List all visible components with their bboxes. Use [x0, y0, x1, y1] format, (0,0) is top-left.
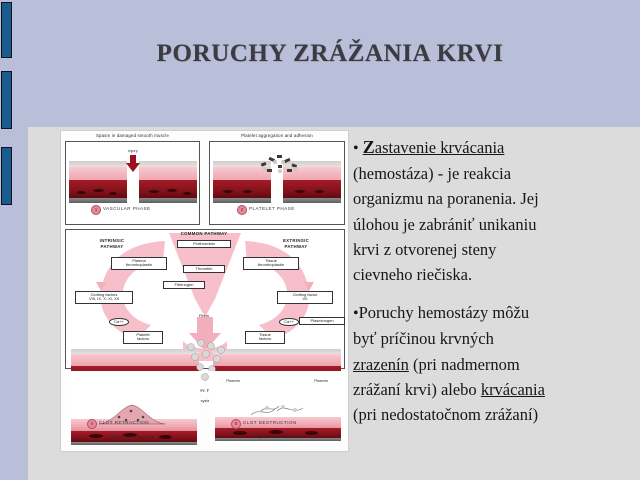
- bullet-2-line-1-text: Poruchy hemostázy môžu: [359, 303, 529, 322]
- bullet-1-line-4: úlohou je zabrániť unikaniu: [353, 212, 640, 237]
- box-fibrin: Fibrin: [189, 313, 219, 319]
- injury-arrow-icon: [123, 155, 143, 173]
- phase-number-retraction: 4: [87, 419, 97, 429]
- caption-vascular-phase: Spasm in damaged smooth muscle: [65, 134, 200, 139]
- dissolving-clot-icon: [247, 399, 309, 419]
- box-prothrombin: Prothrombin: [177, 240, 231, 248]
- box-thrombin: Thrombin: [183, 265, 225, 273]
- box-clotting-factor-line2: VII: [303, 296, 308, 301]
- decoration-bar-2: [1, 71, 12, 129]
- bullet-2-line-1: •Poruchy hemostázy môžu: [353, 300, 640, 326]
- phase-label-destruction: CLOT DESTRUCTION: [243, 421, 345, 426]
- bullet-2-line-2: byť príčinou krvných: [353, 326, 640, 351]
- decoration-bar-3: [1, 147, 12, 205]
- box-plasminogen: Plasminogen: [299, 317, 345, 325]
- bullet-1-line-5: krvi z otvorenej steny: [353, 237, 640, 262]
- pathway-label-intrinsic-line1: INTRINSIC: [83, 239, 141, 244]
- box-plasma-thromboplastin: Plasma thromboplastin: [111, 257, 167, 270]
- box-clotting-factors-intrinsic: Clotting factors VIII, IX, X, XI, XII: [75, 291, 133, 304]
- content-panel: Spasm in damaged smooth muscle injury 1: [28, 127, 640, 480]
- bullet-1-heading: Zastavenie krvácania: [363, 138, 505, 157]
- phase-label-vascular: VASCULAR PHASE: [103, 207, 183, 212]
- box-clotting-factor-extrinsic: Clotting factor VII: [277, 291, 333, 304]
- pathway-label-extrinsic-line2: PATHWAY: [267, 245, 325, 250]
- pathway-label-intrinsic-line2: PATHWAY: [83, 245, 141, 250]
- page-title: PORUCHY ZRÁŽANIA KRVI: [60, 40, 600, 68]
- phase-number-destruction: 5: [231, 419, 241, 429]
- bullet-1-line-6: cievneho riečiska.: [353, 262, 640, 287]
- vessel-illustration-vascular-right: [139, 161, 197, 203]
- caption-platelet-phase: Platelet aggregation and adhesion: [209, 134, 345, 139]
- platelet-cluster-icon: [257, 153, 303, 179]
- bullet-1-line-1: • Zastavenie krvácania: [353, 135, 640, 161]
- slide-canvas: PORUCHY ZRÁŽANIA KRVI Spasm in damaged s…: [0, 0, 640, 480]
- body-text-column: • Zastavenie krvácania (hemostáza) - je …: [353, 135, 640, 427]
- label-plasmin-left: Plasmin: [213, 379, 253, 383]
- box-clotting-factors-line2: VIII, IX, X, XI, XII: [89, 296, 119, 301]
- bullet-1-heading-rest: astavenie krvácania: [375, 138, 505, 157]
- decoration-bar-1: [1, 2, 12, 58]
- pathway-label-common: COMMON PATHWAY: [157, 232, 251, 237]
- box-plasma-thromboplastin-line2: thromboplastin: [126, 262, 152, 267]
- box-platelet-factors: Platelet factors: [123, 331, 163, 344]
- bullet-2-line-3: zrazenín (pri nadmernom: [353, 352, 640, 377]
- bullet-2-line-3-rest: (pri nadmernom: [409, 355, 520, 374]
- box-tissue-thromboplastin-line2: thromboplastin: [258, 262, 284, 267]
- bullet-2-line-4: zrážaní krvi) alebo krvácania: [353, 377, 640, 402]
- box-tissue-factors-line2: factors: [259, 336, 271, 341]
- hemostasis-diagram: Spasm in damaged smooth muscle injury 1: [60, 130, 349, 452]
- bullet-item-1: • Zastavenie krvácania (hemostáza) - je …: [353, 135, 640, 287]
- box-fibrinogen: Fibrinogen: [163, 281, 205, 289]
- phase-number-platelet: 2: [237, 205, 247, 215]
- bullet-1-line-2: (hemostáza) - je reakcia: [353, 161, 640, 186]
- label-plasmin-right: Plasmin: [301, 379, 341, 383]
- phase-number-vascular: 1: [91, 205, 101, 215]
- bullet-1-marker: •: [353, 140, 359, 157]
- pathway-label-extrinsic-line1: EXTRINSIC: [267, 239, 325, 244]
- caption-destruction: Enzymatic destruction of clot: [209, 435, 345, 439]
- bullet-1-heading-initial: Z: [363, 137, 375, 157]
- bullet-item-2: •Poruchy hemostázy môžu byť príčinou krv…: [353, 300, 640, 427]
- bullet-2-term-zrazenin: zrazenín: [353, 355, 409, 374]
- label-injury: injury: [109, 149, 157, 153]
- bullet-2-line-4-lead: zrážaní krvi) alebo: [353, 380, 481, 399]
- box-tissue-thromboplastin: Tissue thromboplastin: [243, 257, 299, 270]
- caption-retraction: Contraction of blood clot: [65, 435, 200, 439]
- box-tissue-factors: Tissue factors: [245, 331, 285, 344]
- bullet-1-line-3: organizmu na poranenia. Jej: [353, 186, 640, 211]
- vessel-illustration-vascular: [69, 161, 127, 203]
- phase-label-platelet: PLATELET PHASE: [249, 207, 339, 212]
- bullet-2-term-krvacania: krvácania: [481, 380, 545, 399]
- box-platelet-factors-line2: factors: [137, 336, 149, 341]
- phase-label-retraction: CLOT RETRACTION: [99, 421, 195, 426]
- bullet-2-line-5: (pri nedostatočnom zrážaní): [353, 402, 640, 427]
